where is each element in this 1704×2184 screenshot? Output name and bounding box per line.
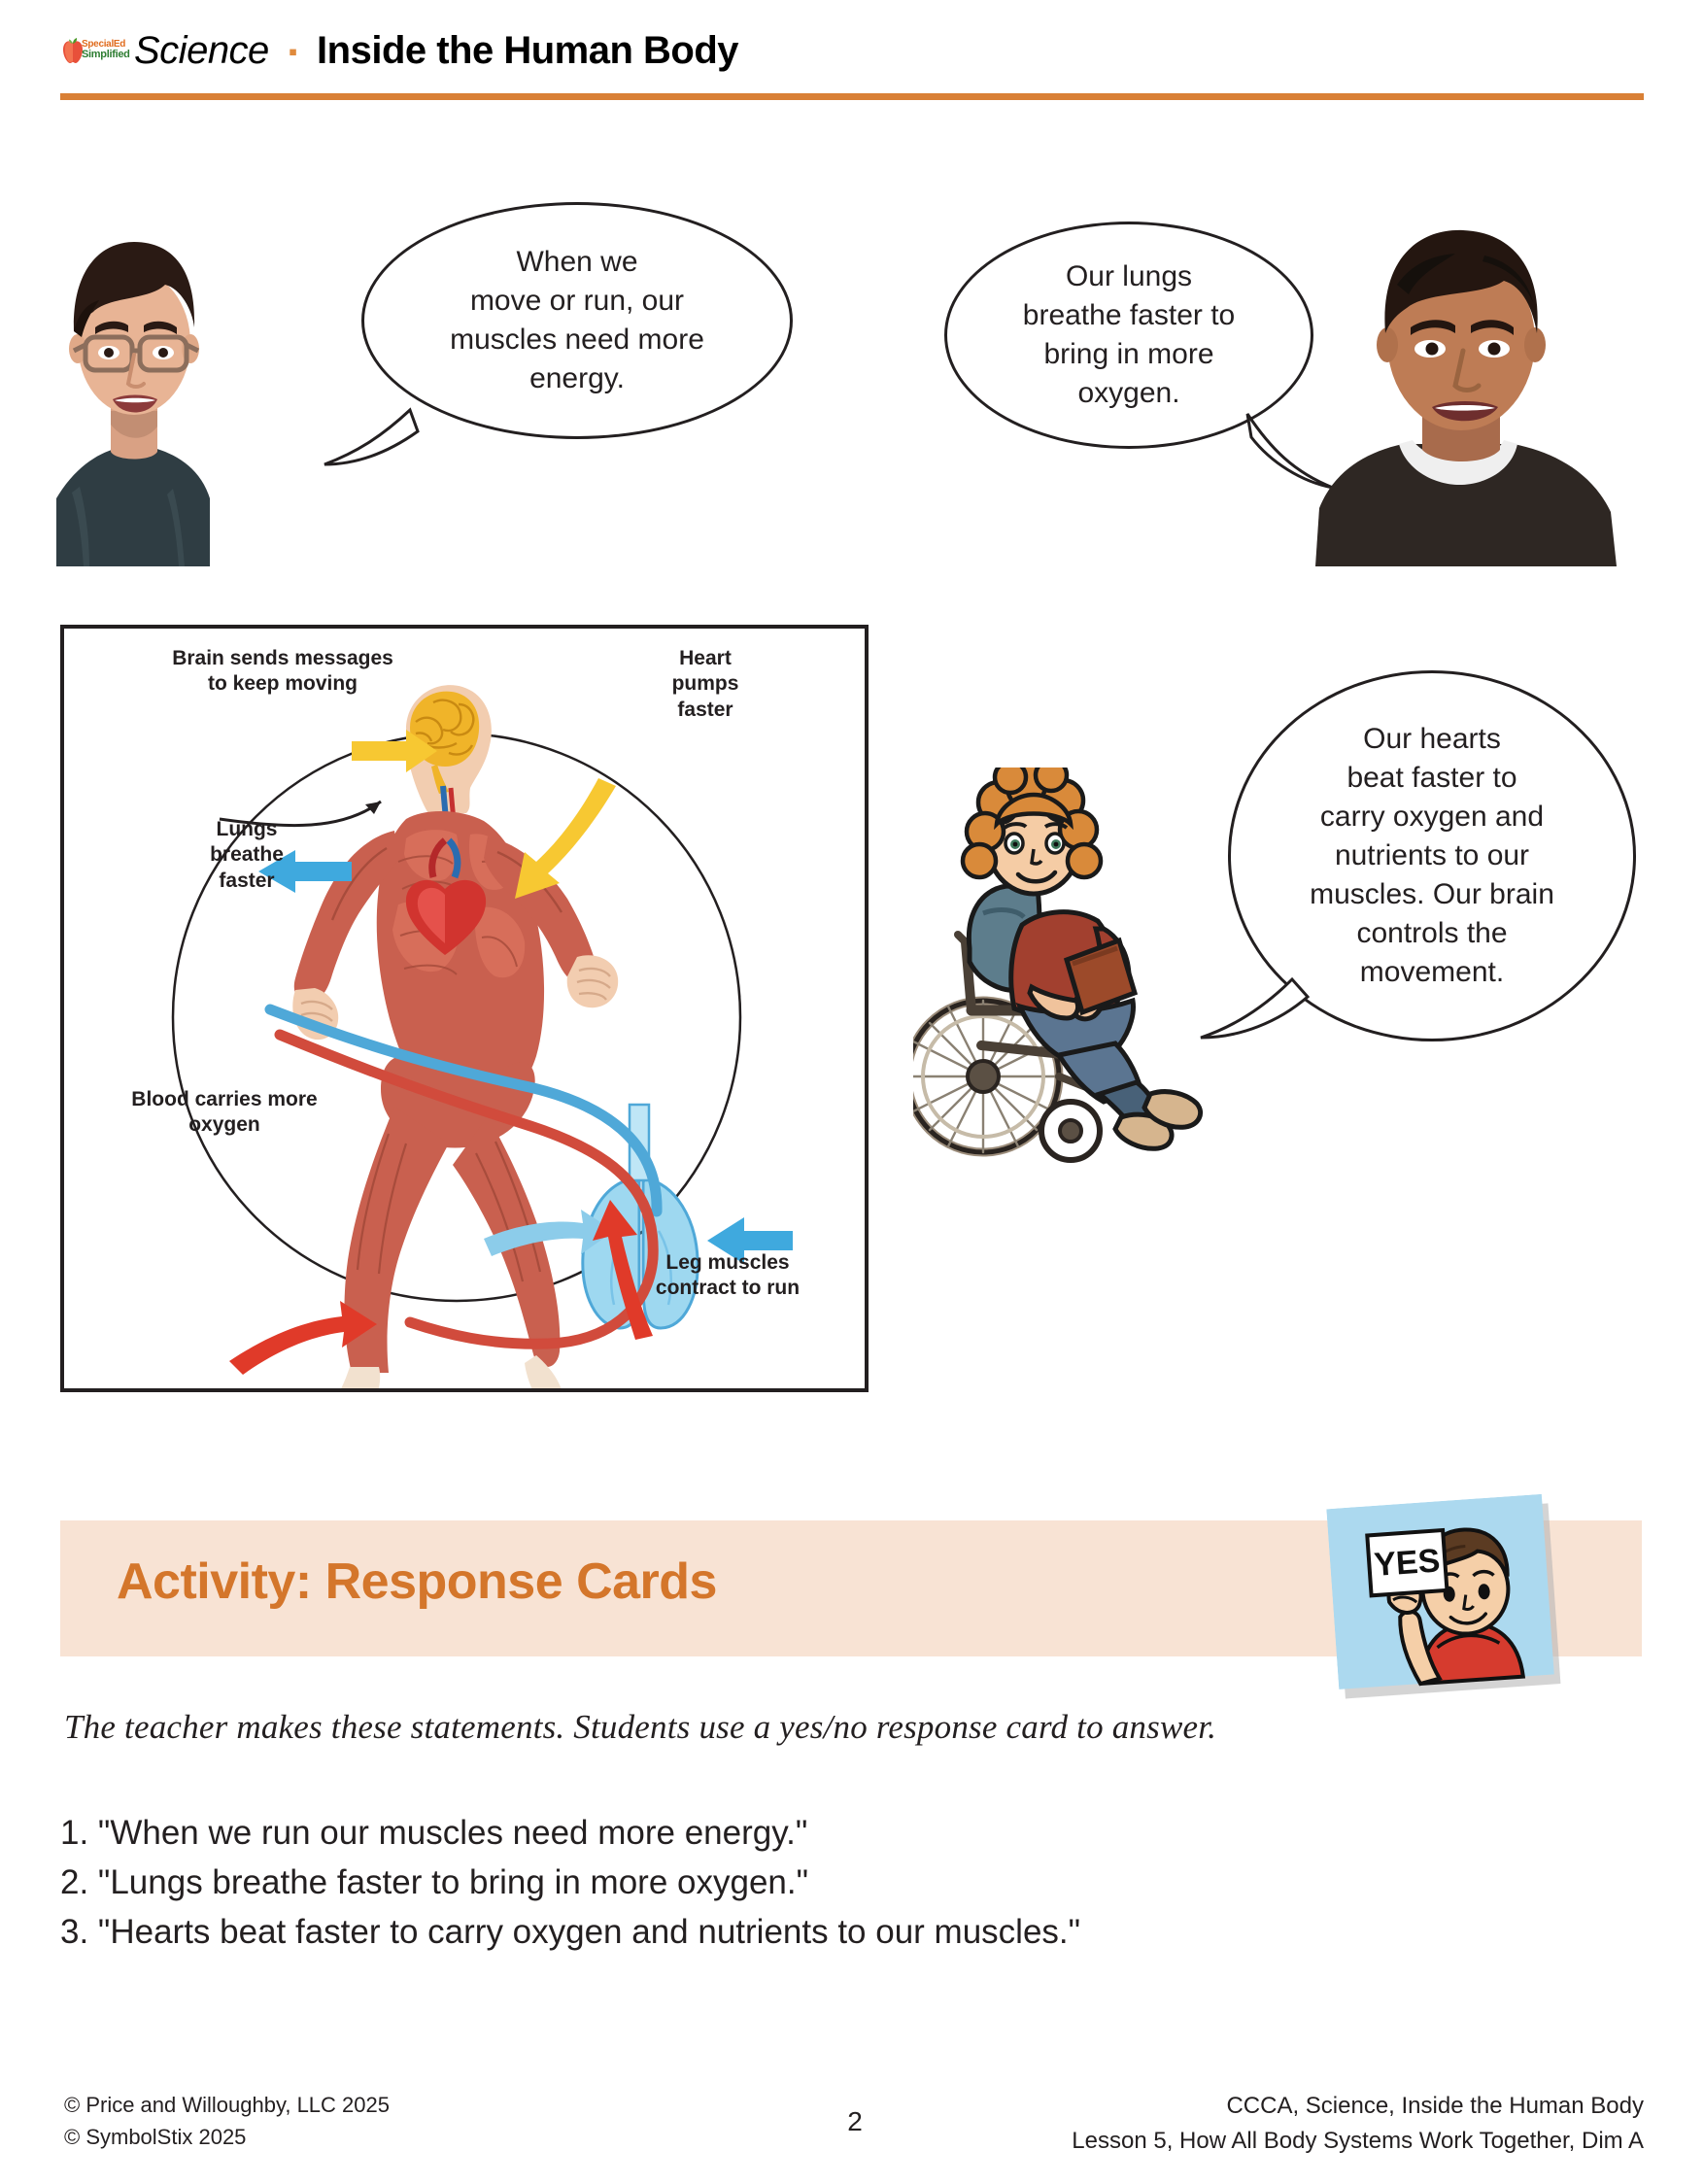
diagram-label-heart: Heart pumps faster [647,646,764,723]
man-dark-sweater-illustration [1310,226,1640,566]
diagram-label-legs: Leg muscles contract to run [616,1250,839,1302]
footer-lesson-info: CCCA, Science, Inside the Human Body Les… [1072,2089,1644,2159]
yes-card-text: YES [1373,1542,1442,1584]
diagram-label-blood: Blood carries more oxygen [103,1087,346,1139]
activity-title: Activity: Response Cards [117,1553,717,1611]
header-subject: Science [134,29,269,73]
page-title: Inside the Human Body [317,29,738,73]
diagram-label-lungs: Lungs breathe faster [188,817,305,894]
statement-item: 1. "When we run our muscles need more en… [60,1809,1653,1859]
speaker-photo-man-with-glasses [56,207,210,566]
copyright-line-1: © Price and Willoughby, LLC 2025 [64,2089,390,2121]
diagram-label-brain: Brain sends messages to keep moving [152,646,414,698]
logo-line1: SpecialEd [82,40,130,50]
statement-item: 3. "Hearts beat faster to carry oxygen a… [60,1908,1653,1958]
speech-bubble-1-tail [317,389,462,505]
header-separator-bullet: ▪ [289,39,297,64]
speaker-photo-man-dark-sweater [1310,226,1640,566]
speech-bubble-1-text: When we move or run, our muscles need mo… [423,243,732,398]
student-in-wheelchair-illustration [913,768,1214,1176]
boy-holding-yes-card-icon: YES [1326,1493,1564,1703]
logo-line2: Simplified [82,50,130,59]
statement-item: 2. "Lungs breathe faster to bring in mor… [60,1859,1653,1908]
speech-bubble-3-text: Our hearts beat faster to carry oxygen a… [1282,720,1582,991]
page-header: SpecialEd Simplified Science ▪ Inside th… [0,0,1704,102]
speech-bubble-3-tail [1176,972,1331,1088]
yes-response-card-image: YES [1326,1493,1564,1703]
wheelchair-student-drawing [913,768,1214,1176]
activity-instruction: The teacher makes these statements. Stud… [64,1708,1657,1747]
footer-copyright: © Price and Willoughby, LLC 2025 © Symbo… [64,2089,390,2153]
lesson-info-line-1: CCCA, Science, Inside the Human Body [1072,2089,1644,2124]
specialed-simplified-logo: SpecialEd Simplified [60,35,120,68]
header-divider-rule [60,93,1644,100]
statements-list: 1. "When we run our muscles need more en… [60,1809,1653,1957]
copyright-line-2: © SymbolStix 2025 [64,2121,390,2153]
heart-arrow [515,778,616,899]
man-with-glasses-illustration [56,207,210,566]
body-systems-diagram: Brain sends messages to keep moving Hear… [60,625,869,1392]
page-number: 2 [835,2106,874,2137]
logo-wordmark: SpecialEd Simplified [82,40,130,59]
header-brand-row: SpecialEd Simplified Science ▪ Inside th… [60,29,738,73]
lesson-info-line-2: Lesson 5, How All Body Systems Work Toge… [1072,2124,1644,2159]
speech-bubble-2-text: Our lungs breathe faster to bring in mor… [996,257,1262,413]
